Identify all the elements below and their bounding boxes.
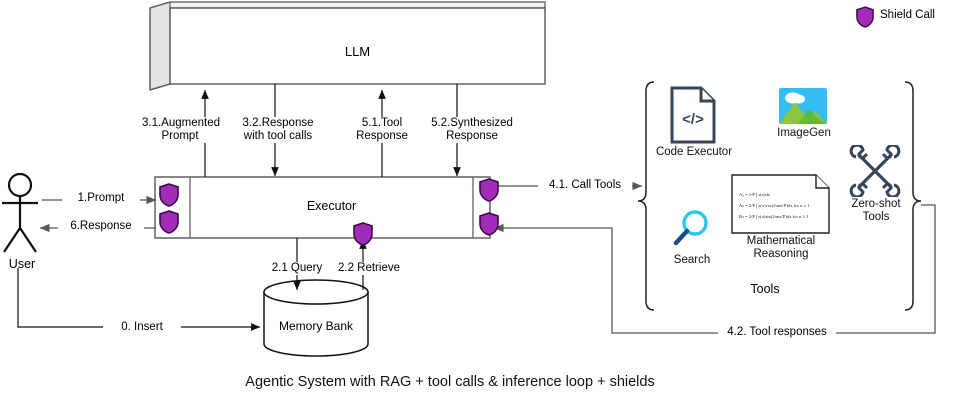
shield-icon-executor-memory xyxy=(353,222,373,251)
legend-shield-icon xyxy=(856,6,874,33)
tool-label-imagegen: ImageGen xyxy=(766,127,842,140)
crossed-wrenches-icon xyxy=(849,145,901,202)
tools-group-label: Tools xyxy=(710,283,820,296)
formula-document-icon: A₀ = 1/P ∫ s(x)dx Aₙ = 2/P ∫ s(x)cos(2πn… xyxy=(731,174,830,239)
edge-label-0-insert: 0. Insert xyxy=(103,321,181,334)
edge-label-2-1-query: 2.1 Query xyxy=(265,262,329,275)
tools-brace-right xyxy=(905,82,921,310)
code-document-icon: </> xyxy=(670,86,716,149)
svg-text:</>: </> xyxy=(682,111,704,128)
diagram-canvas: LLM Executor Memory Bank User Tools 3.1.… xyxy=(0,0,970,411)
tool-label-search: Search xyxy=(657,254,727,267)
tools-brace-left xyxy=(638,82,654,310)
tool-label-zero-shot-tools: Zero-shot Tools xyxy=(838,198,914,224)
tool-label-code-executor: Code Executor xyxy=(648,146,740,159)
user-stick-figure xyxy=(2,174,38,252)
memory-bank-label: Memory Bank xyxy=(264,320,368,333)
memory-bank-cylinder xyxy=(264,280,368,356)
shield-icon-executor-in-1 xyxy=(159,183,179,212)
user-label: User xyxy=(0,258,44,271)
legend-shield-label: Shield Call xyxy=(880,9,935,21)
edge-label-2-2-retrieve: 2.2 Retrieve xyxy=(332,262,406,275)
edge-label-4-2-tool-responses: 4.2. Tool responses xyxy=(718,326,836,339)
shield-icon-executor-out-2 xyxy=(479,212,499,241)
edge-label-3-2: 3.2.Response with tool calls xyxy=(235,117,321,143)
magnifier-icon xyxy=(671,209,711,256)
llm-label: LLM xyxy=(170,45,545,58)
shield-icon-executor-out-1 xyxy=(479,178,499,207)
executor-label: Executor xyxy=(190,200,473,213)
edge-label-5-2: 5.2.Synthesized Response xyxy=(427,117,517,143)
edge-label-3-1: 3.1.Augmented Prompt xyxy=(142,117,218,143)
edge-0-insert xyxy=(18,268,260,327)
edge-label-1-prompt: 1.Prompt xyxy=(62,192,140,205)
image-icon xyxy=(779,88,827,129)
shield-icon-executor-in-2 xyxy=(159,210,179,239)
edge-label-5-1: 5.1.Tool Response xyxy=(348,117,416,143)
diagram-caption: Agentic System with RAG + tool calls & i… xyxy=(0,374,900,390)
edge-label-6-response: 6.Response xyxy=(58,220,144,233)
edge-4-2-tool-responses xyxy=(494,205,935,333)
edge-label-4-1-call-tools: 4.1. Call Tools xyxy=(538,179,632,192)
tool-label-mathematical-reasoning: Mathematical Reasoning xyxy=(722,235,840,261)
